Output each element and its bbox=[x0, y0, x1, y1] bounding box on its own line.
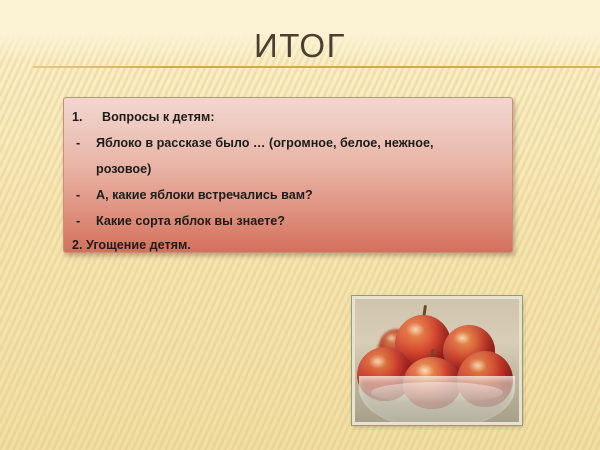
apples-in-glass-bowl-photo bbox=[352, 296, 522, 425]
list-item-text: Яблоко в рассказе было … (огромное, бело… bbox=[96, 136, 434, 150]
page-title: ИТОГ bbox=[0, 26, 600, 66]
list-marker: - bbox=[72, 208, 96, 234]
content-text-box: 1.Вопросы к детям: -Яблоко в рассказе бы… bbox=[63, 97, 513, 253]
list-marker: - bbox=[72, 130, 96, 156]
list-item-text: Вопросы к детям: bbox=[102, 110, 215, 124]
list-item-text: розовое) bbox=[72, 156, 151, 182]
list-item: -Яблоко в рассказе было … (огромное, бел… bbox=[72, 130, 500, 156]
slide-canvas: ИТОГ 1.Вопросы к детям: -Яблоко в расска… bbox=[0, 0, 600, 450]
list-item-text: А, какие яблоки встречались вам? bbox=[96, 188, 313, 202]
list-item: -Какие сорта яблок вы знаете? bbox=[72, 208, 500, 234]
list-item: -А, какие яблоки встречались вам? bbox=[72, 182, 500, 208]
title-divider-rule bbox=[33, 66, 600, 68]
list-item: 2. Угощение детям. bbox=[72, 234, 500, 253]
list-item: 1.Вопросы к детям: bbox=[72, 104, 500, 130]
list-marker: - bbox=[72, 182, 96, 208]
list-marker: 1. bbox=[72, 104, 102, 130]
photo-content bbox=[355, 299, 519, 422]
list-item-text: 2. Угощение детям. bbox=[72, 238, 191, 252]
list-item-continuation: розовое) bbox=[72, 156, 500, 182]
glass-bowl bbox=[359, 376, 515, 422]
list-item-text: Какие сорта яблок вы знаете? bbox=[96, 214, 285, 228]
